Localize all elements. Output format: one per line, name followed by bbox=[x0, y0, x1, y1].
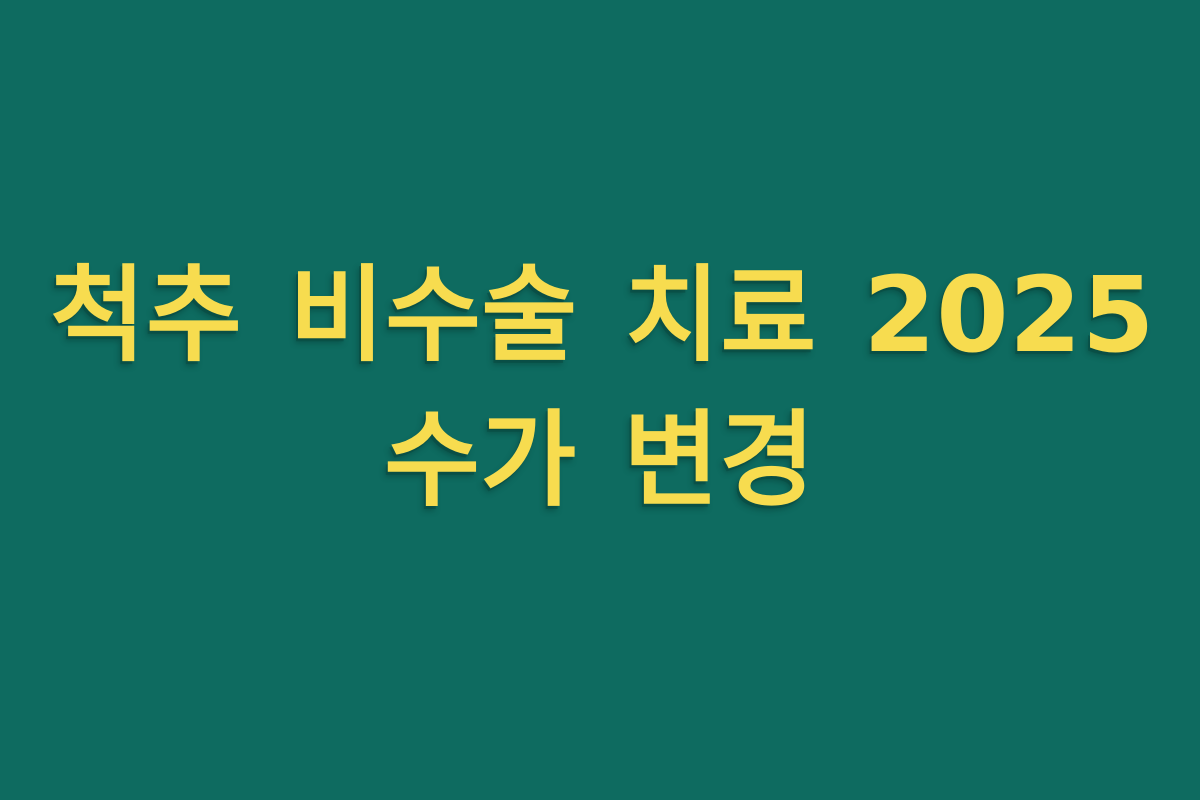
banner-headline: 척추 비수술 치료 2025 수가 변경 bbox=[50, 243, 1150, 533]
headline-line-2: 수가 변경 bbox=[50, 388, 1150, 533]
title-banner: 척추 비수술 치료 2025 수가 변경 bbox=[0, 0, 1200, 800]
headline-line-1: 척추 비수술 치료 2025 bbox=[50, 243, 1150, 388]
